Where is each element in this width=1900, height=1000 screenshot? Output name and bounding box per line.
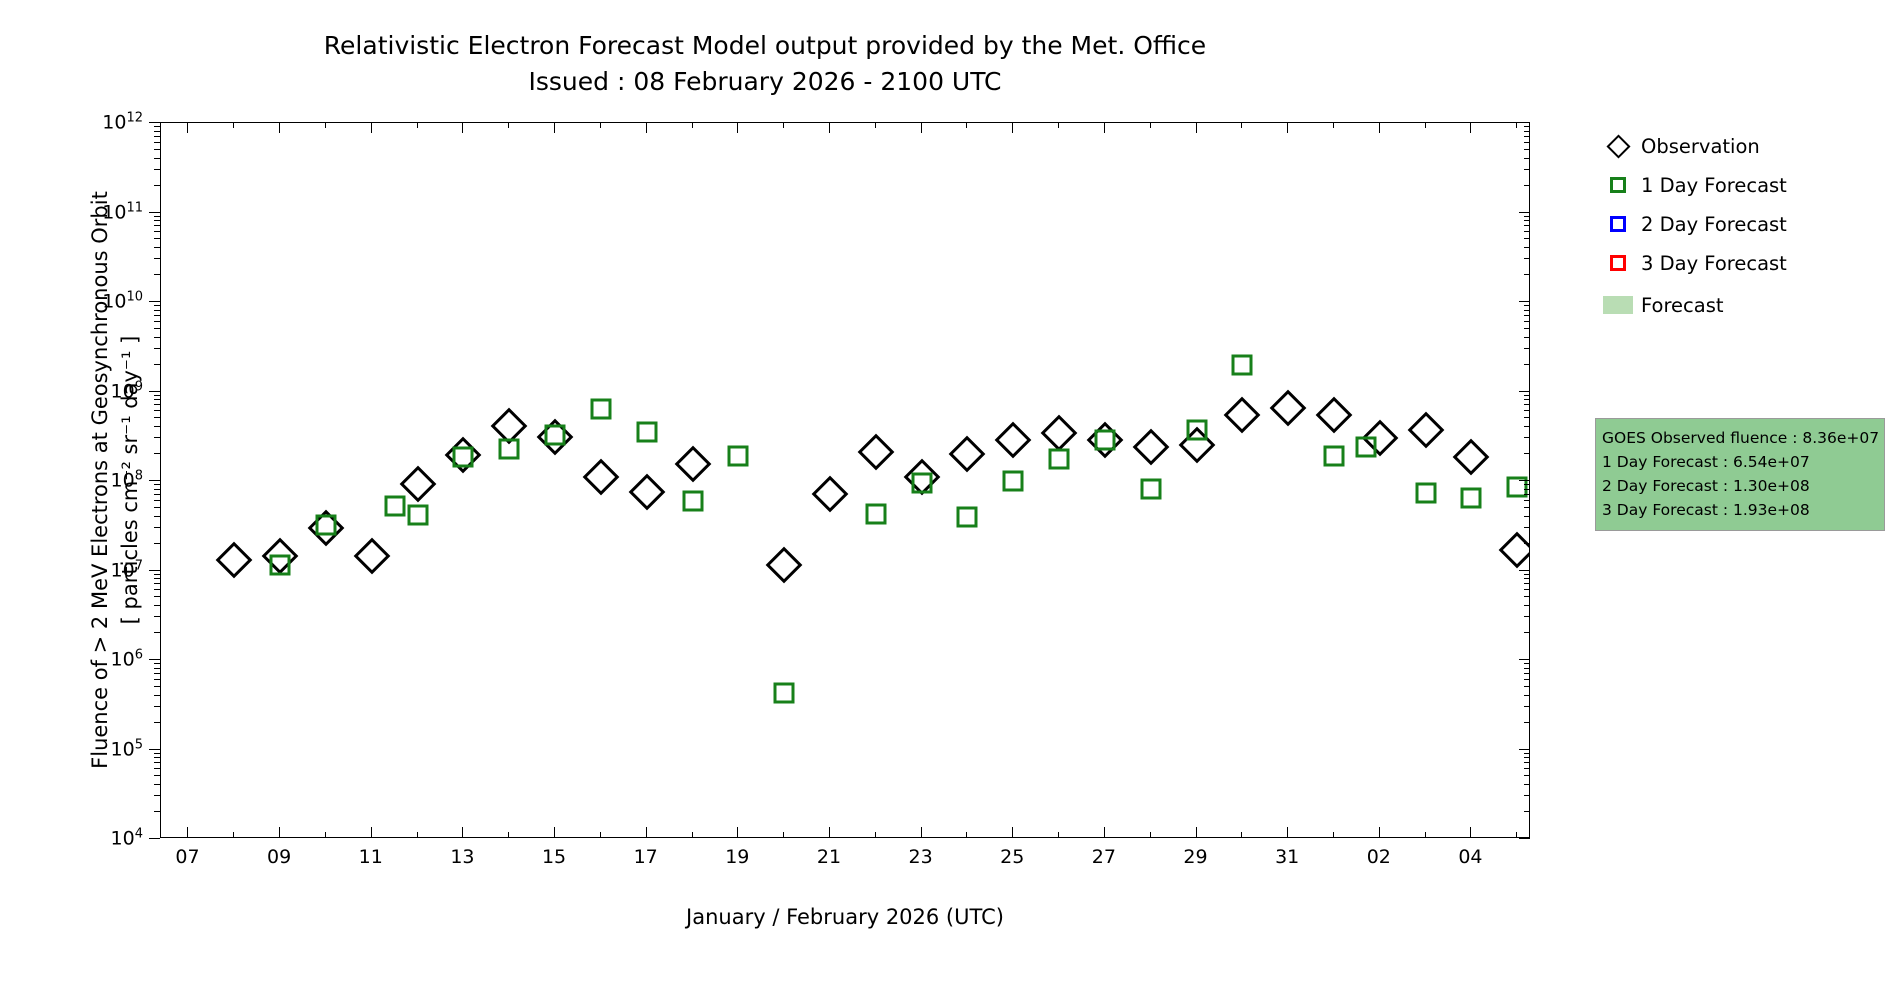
y-axis-minor-tick bbox=[1524, 489, 1530, 490]
legend-item-forecast[interactable]: Forecast bbox=[1595, 289, 1885, 321]
x-axis-title: January / February 2026 (UTC) bbox=[160, 905, 1530, 929]
observation-marker bbox=[674, 446, 711, 483]
y-axis-minor-tick bbox=[1524, 722, 1530, 723]
observation-marker bbox=[1407, 412, 1444, 449]
forecast-1day-marker bbox=[1461, 487, 1482, 508]
y-axis-minor-tick bbox=[1524, 231, 1530, 232]
x-axis-minor-tick bbox=[1425, 122, 1426, 128]
y-axis-minor-tick bbox=[154, 489, 160, 490]
forecast-1day-marker bbox=[1323, 446, 1344, 467]
y-axis-minor-tick bbox=[154, 762, 160, 763]
forecast-1day-marker bbox=[270, 555, 291, 576]
y-axis-minor-tick bbox=[154, 596, 160, 597]
y-axis-minor-tick bbox=[1524, 274, 1530, 275]
y-axis-minor-tick bbox=[1524, 131, 1530, 132]
x-axis-minor-tick bbox=[1516, 122, 1517, 128]
y-axis-minor-tick bbox=[1524, 589, 1530, 590]
observation-marker bbox=[582, 459, 619, 496]
y-axis-minor-tick bbox=[1524, 437, 1530, 438]
forecast-1day-marker bbox=[636, 422, 657, 443]
x-axis-minor-tick bbox=[417, 832, 418, 838]
y-axis-minor-tick bbox=[1524, 484, 1530, 485]
y-axis-minor-tick bbox=[1524, 364, 1530, 365]
legend-key bbox=[1595, 296, 1641, 314]
legend: Observation1 Day Forecast2 Day Forecast3… bbox=[1595, 130, 1885, 328]
y-axis-minor-tick bbox=[1524, 410, 1530, 411]
x-axis-tick bbox=[554, 827, 555, 838]
y-axis-minor-tick bbox=[1524, 811, 1530, 812]
x-axis-minor-tick bbox=[600, 122, 601, 128]
x-axis-tick bbox=[1104, 827, 1105, 838]
y-axis-minor-tick bbox=[1524, 679, 1530, 680]
observation-marker bbox=[353, 538, 390, 575]
y-axis-minor-tick bbox=[154, 258, 160, 259]
y-axis-minor-tick bbox=[1524, 310, 1530, 311]
y-axis-minor-tick bbox=[154, 543, 160, 544]
y-axis-minor-tick bbox=[1524, 527, 1530, 528]
fluence-info-line: 2 Day Forecast : 1.30e+08 bbox=[1602, 474, 1878, 498]
forecast-1day-marker bbox=[1003, 471, 1024, 492]
y-axis-minor-tick bbox=[1524, 753, 1530, 754]
x-axis-minor-tick bbox=[600, 832, 601, 838]
y-axis-minor-tick bbox=[154, 231, 160, 232]
y-axis-tick bbox=[149, 301, 160, 302]
x-axis-tick bbox=[554, 122, 555, 133]
y-axis-minor-tick bbox=[154, 484, 160, 485]
x-axis-tick-label: 19 bbox=[725, 846, 749, 868]
y-axis-minor-tick bbox=[154, 632, 160, 633]
y-axis-minor-tick bbox=[154, 216, 160, 217]
legend-label: Observation bbox=[1641, 135, 1760, 158]
y-axis-tick bbox=[1519, 480, 1530, 481]
y-axis-minor-tick bbox=[1524, 216, 1530, 217]
y-axis-minor-tick bbox=[1524, 632, 1530, 633]
y-axis-minor-tick bbox=[154, 574, 160, 575]
y-axis-title-line1: Fluence of > 2 MeV Electrons at Geosynch… bbox=[88, 122, 112, 838]
y-axis-minor-tick bbox=[1524, 136, 1530, 137]
x-axis-tick bbox=[1470, 827, 1471, 838]
x-axis-minor-tick bbox=[1516, 832, 1517, 838]
x-axis-minor-tick bbox=[1058, 832, 1059, 838]
y-axis-minor-tick bbox=[1524, 225, 1530, 226]
y-axis-minor-tick bbox=[154, 507, 160, 508]
x-axis-tick bbox=[646, 827, 647, 838]
y-axis-minor-tick bbox=[154, 768, 160, 769]
y-axis-minor-tick bbox=[154, 142, 160, 143]
x-axis-tick bbox=[462, 122, 463, 133]
x-axis-tick bbox=[462, 827, 463, 838]
x-axis-tick-label: 09 bbox=[267, 846, 291, 868]
x-axis-tick bbox=[646, 122, 647, 133]
forecast-1day-marker bbox=[865, 503, 886, 524]
y-axis-tick bbox=[149, 480, 160, 481]
x-axis-tick bbox=[371, 122, 372, 133]
x-axis-minor-tick bbox=[233, 832, 234, 838]
y-axis-minor-tick bbox=[154, 722, 160, 723]
y-axis-tick bbox=[149, 391, 160, 392]
y-axis-minor-tick bbox=[1524, 507, 1530, 508]
y-axis-tick bbox=[149, 212, 160, 213]
legend-key bbox=[1595, 255, 1641, 271]
y-axis-minor-tick bbox=[154, 399, 160, 400]
x-axis-tick bbox=[187, 827, 188, 838]
x-axis-tick bbox=[829, 122, 830, 133]
x-axis-tick bbox=[187, 122, 188, 133]
x-axis-minor-tick bbox=[875, 122, 876, 128]
x-axis-tick bbox=[1196, 122, 1197, 133]
forecast-1day-marker bbox=[1140, 478, 1161, 499]
y-axis-minor-tick bbox=[1524, 784, 1530, 785]
y-axis-minor-tick bbox=[154, 126, 160, 127]
y-axis-minor-tick bbox=[1524, 158, 1530, 159]
y-axis-minor-tick bbox=[154, 668, 160, 669]
legend-label: Forecast bbox=[1641, 294, 1724, 317]
y-axis-minor-tick bbox=[1524, 762, 1530, 763]
forecast-1day-marker bbox=[911, 472, 932, 493]
x-axis-minor-tick bbox=[1150, 122, 1151, 128]
x-axis-tick bbox=[829, 827, 830, 838]
y-axis-minor-tick bbox=[1524, 706, 1530, 707]
y-axis-minor-tick bbox=[154, 437, 160, 438]
y-axis-minor-tick bbox=[1524, 663, 1530, 664]
y-axis-minor-tick bbox=[1524, 775, 1530, 776]
y-axis-tick bbox=[149, 838, 160, 839]
y-axis-tick bbox=[149, 659, 160, 660]
y-axis-minor-tick bbox=[154, 757, 160, 758]
y-axis-minor-tick bbox=[1524, 543, 1530, 544]
x-axis-tick bbox=[1012, 122, 1013, 133]
fluence-info-line: 3 Day Forecast : 1.93e+08 bbox=[1602, 498, 1878, 522]
y-axis-minor-tick bbox=[154, 679, 160, 680]
x-axis-tick bbox=[921, 827, 922, 838]
y-axis-minor-tick bbox=[154, 238, 160, 239]
y-axis-minor-tick bbox=[1524, 583, 1530, 584]
y-axis-minor-tick bbox=[1524, 185, 1530, 186]
y-axis-minor-tick bbox=[154, 395, 160, 396]
y-axis-minor-tick bbox=[1524, 315, 1530, 316]
y-axis-tick bbox=[149, 122, 160, 123]
y-axis-minor-tick bbox=[1524, 238, 1530, 239]
observation-marker bbox=[812, 475, 849, 512]
y-axis-minor-tick bbox=[154, 404, 160, 405]
x-axis-tick-label: 25 bbox=[1000, 846, 1024, 868]
y-axis-minor-tick bbox=[1524, 305, 1530, 306]
y-axis-tick bbox=[1519, 838, 1530, 839]
x-axis-tick-label: 21 bbox=[817, 846, 841, 868]
y-axis-minor-tick bbox=[154, 811, 160, 812]
y-axis-minor-tick bbox=[1524, 426, 1530, 427]
y-axis-minor-tick bbox=[1524, 348, 1530, 349]
y-axis-tick bbox=[149, 570, 160, 571]
y-axis-minor-tick bbox=[1524, 417, 1530, 418]
y-axis-minor-tick bbox=[1524, 686, 1530, 687]
plot-area: Forecast bbox=[160, 122, 1530, 838]
observation-marker bbox=[949, 436, 986, 473]
forecast-1day-marker bbox=[1049, 449, 1070, 470]
y-axis-minor-tick bbox=[1524, 494, 1530, 495]
x-axis-minor-tick bbox=[1425, 832, 1426, 838]
legend-key bbox=[1595, 138, 1641, 155]
y-axis-minor-tick bbox=[154, 364, 160, 365]
legend-item-2-day-forecast[interactable]: 2 Day Forecast bbox=[1595, 208, 1885, 240]
forecast-1day-marker bbox=[774, 682, 795, 703]
x-axis-tick-label: 23 bbox=[909, 846, 933, 868]
x-axis-tick bbox=[279, 827, 280, 838]
x-axis-minor-tick bbox=[508, 122, 509, 128]
y-axis-minor-tick bbox=[1524, 453, 1530, 454]
y-axis-minor-tick bbox=[154, 583, 160, 584]
fluence-info-box: GOES Observed fluence : 8.36e+071 Day Fo… bbox=[1595, 418, 1885, 531]
observation-marker bbox=[628, 473, 665, 510]
x-axis-tick bbox=[279, 122, 280, 133]
y-axis-minor-tick bbox=[1524, 321, 1530, 322]
y-axis-minor-tick bbox=[1524, 142, 1530, 143]
x-axis-tick-label: 11 bbox=[359, 846, 383, 868]
y-axis-minor-tick bbox=[154, 136, 160, 137]
observation-marker bbox=[1499, 531, 1530, 568]
forecast-1day-marker bbox=[957, 506, 978, 527]
x-axis-tick-label: 07 bbox=[175, 846, 199, 868]
forecast-1day-marker bbox=[384, 495, 405, 516]
y-axis-minor-tick bbox=[154, 663, 160, 664]
y-axis-minor-tick bbox=[1524, 399, 1530, 400]
fluence-info-line: GOES Observed fluence : 8.36e+07 bbox=[1602, 426, 1878, 450]
x-axis-minor-tick bbox=[417, 122, 418, 128]
y-axis-tick bbox=[1519, 749, 1530, 750]
y-axis-minor-tick bbox=[154, 337, 160, 338]
red-square-marker-icon bbox=[1610, 255, 1626, 271]
y-axis-minor-tick bbox=[154, 158, 160, 159]
y-axis-minor-tick bbox=[154, 328, 160, 329]
x-axis-minor-tick bbox=[875, 832, 876, 838]
legend-key bbox=[1595, 177, 1641, 193]
y-axis-minor-tick bbox=[154, 417, 160, 418]
legend-item-3-day-forecast[interactable]: 3 Day Forecast bbox=[1595, 247, 1885, 279]
forecast-1day-marker bbox=[728, 446, 749, 467]
forecast-1day-marker bbox=[590, 398, 611, 419]
x-axis-tick bbox=[371, 827, 372, 838]
x-axis-tick-label: 29 bbox=[1183, 846, 1207, 868]
x-axis-tick bbox=[1470, 122, 1471, 133]
observation-marker bbox=[995, 421, 1032, 458]
forecast-1day-marker bbox=[682, 490, 703, 511]
forecast-1day-marker bbox=[499, 438, 520, 459]
y-axis-minor-tick bbox=[1524, 695, 1530, 696]
y-axis-tick bbox=[1519, 122, 1530, 123]
y-axis-minor-tick bbox=[154, 784, 160, 785]
y-axis-minor-tick bbox=[154, 616, 160, 617]
y-axis-minor-tick bbox=[1524, 395, 1530, 396]
y-axis-minor-tick bbox=[1524, 574, 1530, 575]
blue-square-marker-icon bbox=[1610, 216, 1626, 232]
y-axis-minor-tick bbox=[154, 686, 160, 687]
y-axis-minor-tick bbox=[154, 185, 160, 186]
x-axis-tick bbox=[1287, 122, 1288, 133]
forecast-1day-marker bbox=[1186, 420, 1207, 441]
y-axis-minor-tick bbox=[154, 321, 160, 322]
legend-label: 3 Day Forecast bbox=[1641, 252, 1787, 275]
x-axis-minor-tick bbox=[783, 122, 784, 128]
observation-marker bbox=[1316, 397, 1353, 434]
y-axis-title-line2: [ particles cm⁻² sr⁻¹ day⁻¹ ] bbox=[118, 122, 142, 838]
x-axis-minor-tick bbox=[1150, 832, 1151, 838]
x-axis-minor-tick bbox=[966, 832, 967, 838]
y-axis-minor-tick bbox=[154, 315, 160, 316]
y-axis-minor-tick bbox=[154, 527, 160, 528]
y-axis-minor-tick bbox=[1524, 605, 1530, 606]
y-axis-minor-tick bbox=[1524, 516, 1530, 517]
x-axis-minor-tick bbox=[233, 122, 234, 128]
x-axis-tick-label: 31 bbox=[1275, 846, 1299, 868]
observation-marker bbox=[857, 434, 894, 471]
y-axis-minor-tick bbox=[1524, 768, 1530, 769]
forecast-1day-marker bbox=[1094, 429, 1115, 450]
y-axis-minor-tick bbox=[154, 348, 160, 349]
y-axis-minor-tick bbox=[154, 605, 160, 606]
y-axis-minor-tick bbox=[154, 500, 160, 501]
y-axis-minor-tick bbox=[1524, 757, 1530, 758]
y-axis-minor-tick bbox=[1524, 328, 1530, 329]
forecast-1day-marker bbox=[453, 447, 474, 468]
x-axis-minor-tick bbox=[1333, 832, 1334, 838]
y-axis-minor-tick bbox=[154, 410, 160, 411]
x-axis-tick bbox=[1012, 827, 1013, 838]
x-axis-tick bbox=[921, 122, 922, 133]
x-axis-minor-tick bbox=[783, 832, 784, 838]
forecast-1day-marker bbox=[545, 424, 566, 445]
x-axis-minor-tick bbox=[1241, 122, 1242, 128]
x-axis-tick bbox=[1287, 827, 1288, 838]
y-axis-tick bbox=[1519, 659, 1530, 660]
observation-marker bbox=[216, 542, 253, 579]
forecast-1day-marker bbox=[407, 504, 428, 525]
x-axis-tick-label: 17 bbox=[634, 846, 658, 868]
y-axis-minor-tick bbox=[1524, 220, 1530, 221]
y-axis-tick bbox=[1519, 570, 1530, 571]
y-axis-minor-tick bbox=[154, 775, 160, 776]
legend-label: 2 Day Forecast bbox=[1641, 213, 1787, 236]
x-axis-minor-tick bbox=[966, 122, 967, 128]
x-axis-tick-label: 02 bbox=[1367, 846, 1391, 868]
x-axis-tick-label: 04 bbox=[1458, 846, 1482, 868]
x-axis-tick bbox=[1379, 827, 1380, 838]
x-axis-minor-tick bbox=[508, 832, 509, 838]
y-axis-minor-tick bbox=[1524, 247, 1530, 248]
y-axis-minor-tick bbox=[154, 589, 160, 590]
fluence-info-line: 1 Day Forecast : 6.54e+07 bbox=[1602, 450, 1878, 474]
legend-item-observation[interactable]: Observation bbox=[1595, 130, 1885, 162]
y-axis-minor-tick bbox=[154, 494, 160, 495]
y-axis-minor-tick bbox=[154, 225, 160, 226]
x-axis-tick-label: 15 bbox=[542, 846, 566, 868]
y-axis-tick bbox=[1519, 301, 1530, 302]
x-axis-tick bbox=[1196, 827, 1197, 838]
y-axis-minor-tick bbox=[154, 220, 160, 221]
y-axis-minor-tick bbox=[1524, 668, 1530, 669]
y-axis-minor-tick bbox=[154, 274, 160, 275]
y-axis-tick bbox=[149, 749, 160, 750]
forecast-band-patch-icon bbox=[1603, 296, 1633, 314]
legend-item-1-day-forecast[interactable]: 1 Day Forecast bbox=[1595, 169, 1885, 201]
y-axis-minor-tick bbox=[1524, 337, 1530, 338]
y-axis-minor-tick bbox=[1524, 616, 1530, 617]
y-axis-minor-tick bbox=[154, 673, 160, 674]
diamond-marker-icon bbox=[1606, 134, 1630, 158]
y-axis-minor-tick bbox=[1524, 169, 1530, 170]
y-axis-minor-tick bbox=[154, 753, 160, 754]
x-axis-minor-tick bbox=[1058, 122, 1059, 128]
x-axis-tick bbox=[1104, 122, 1105, 133]
y-axis-minor-tick bbox=[154, 131, 160, 132]
observation-marker bbox=[1453, 439, 1490, 476]
y-axis-minor-tick bbox=[154, 695, 160, 696]
legend-label: 1 Day Forecast bbox=[1641, 174, 1787, 197]
x-axis-tick-label: 27 bbox=[1092, 846, 1116, 868]
y-axis-minor-tick bbox=[1524, 258, 1530, 259]
x-axis-minor-tick bbox=[692, 832, 693, 838]
x-axis-tick bbox=[1379, 122, 1380, 133]
y-axis-tick bbox=[1519, 212, 1530, 213]
y-axis-minor-tick bbox=[154, 795, 160, 796]
y-axis-tick bbox=[1519, 391, 1530, 392]
x-axis-tick-label: 13 bbox=[450, 846, 474, 868]
y-axis-minor-tick bbox=[1524, 673, 1530, 674]
observation-marker bbox=[1270, 390, 1307, 427]
forecast-1day-marker bbox=[1232, 354, 1253, 375]
observation-marker bbox=[766, 547, 803, 584]
y-axis-minor-tick bbox=[1524, 596, 1530, 597]
x-axis-minor-tick bbox=[1333, 122, 1334, 128]
y-axis-minor-tick bbox=[1524, 500, 1530, 501]
x-axis-tick bbox=[737, 827, 738, 838]
y-axis-minor-tick bbox=[154, 706, 160, 707]
forecast-1day-marker bbox=[1415, 483, 1436, 504]
y-axis-minor-tick bbox=[1524, 149, 1530, 150]
green-square-marker-icon bbox=[1610, 177, 1626, 193]
x-axis-tick bbox=[737, 122, 738, 133]
x-axis-minor-tick bbox=[692, 122, 693, 128]
y-axis-minor-tick bbox=[154, 169, 160, 170]
y-axis-minor-tick bbox=[154, 578, 160, 579]
y-axis-minor-tick bbox=[1524, 404, 1530, 405]
x-axis-minor-tick bbox=[325, 832, 326, 838]
y-axis-minor-tick bbox=[154, 426, 160, 427]
observation-marker bbox=[1041, 415, 1078, 452]
forecast-1day-marker bbox=[315, 515, 336, 536]
y-axis-minor-tick bbox=[154, 149, 160, 150]
x-axis-minor-tick bbox=[325, 122, 326, 128]
y-axis-minor-tick bbox=[154, 305, 160, 306]
x-axis-minor-tick bbox=[1241, 832, 1242, 838]
forecast-1day-marker bbox=[1356, 436, 1377, 457]
y-axis-minor-tick bbox=[1524, 578, 1530, 579]
y-axis-minor-tick bbox=[154, 516, 160, 517]
y-axis-minor-tick bbox=[1524, 126, 1530, 127]
y-axis-minor-tick bbox=[1524, 795, 1530, 796]
observation-marker bbox=[1224, 396, 1261, 433]
observation-marker bbox=[1132, 429, 1169, 466]
legend-key bbox=[1595, 216, 1641, 232]
y-axis-minor-tick bbox=[154, 247, 160, 248]
y-axis-minor-tick bbox=[154, 310, 160, 311]
y-axis-minor-tick bbox=[154, 453, 160, 454]
